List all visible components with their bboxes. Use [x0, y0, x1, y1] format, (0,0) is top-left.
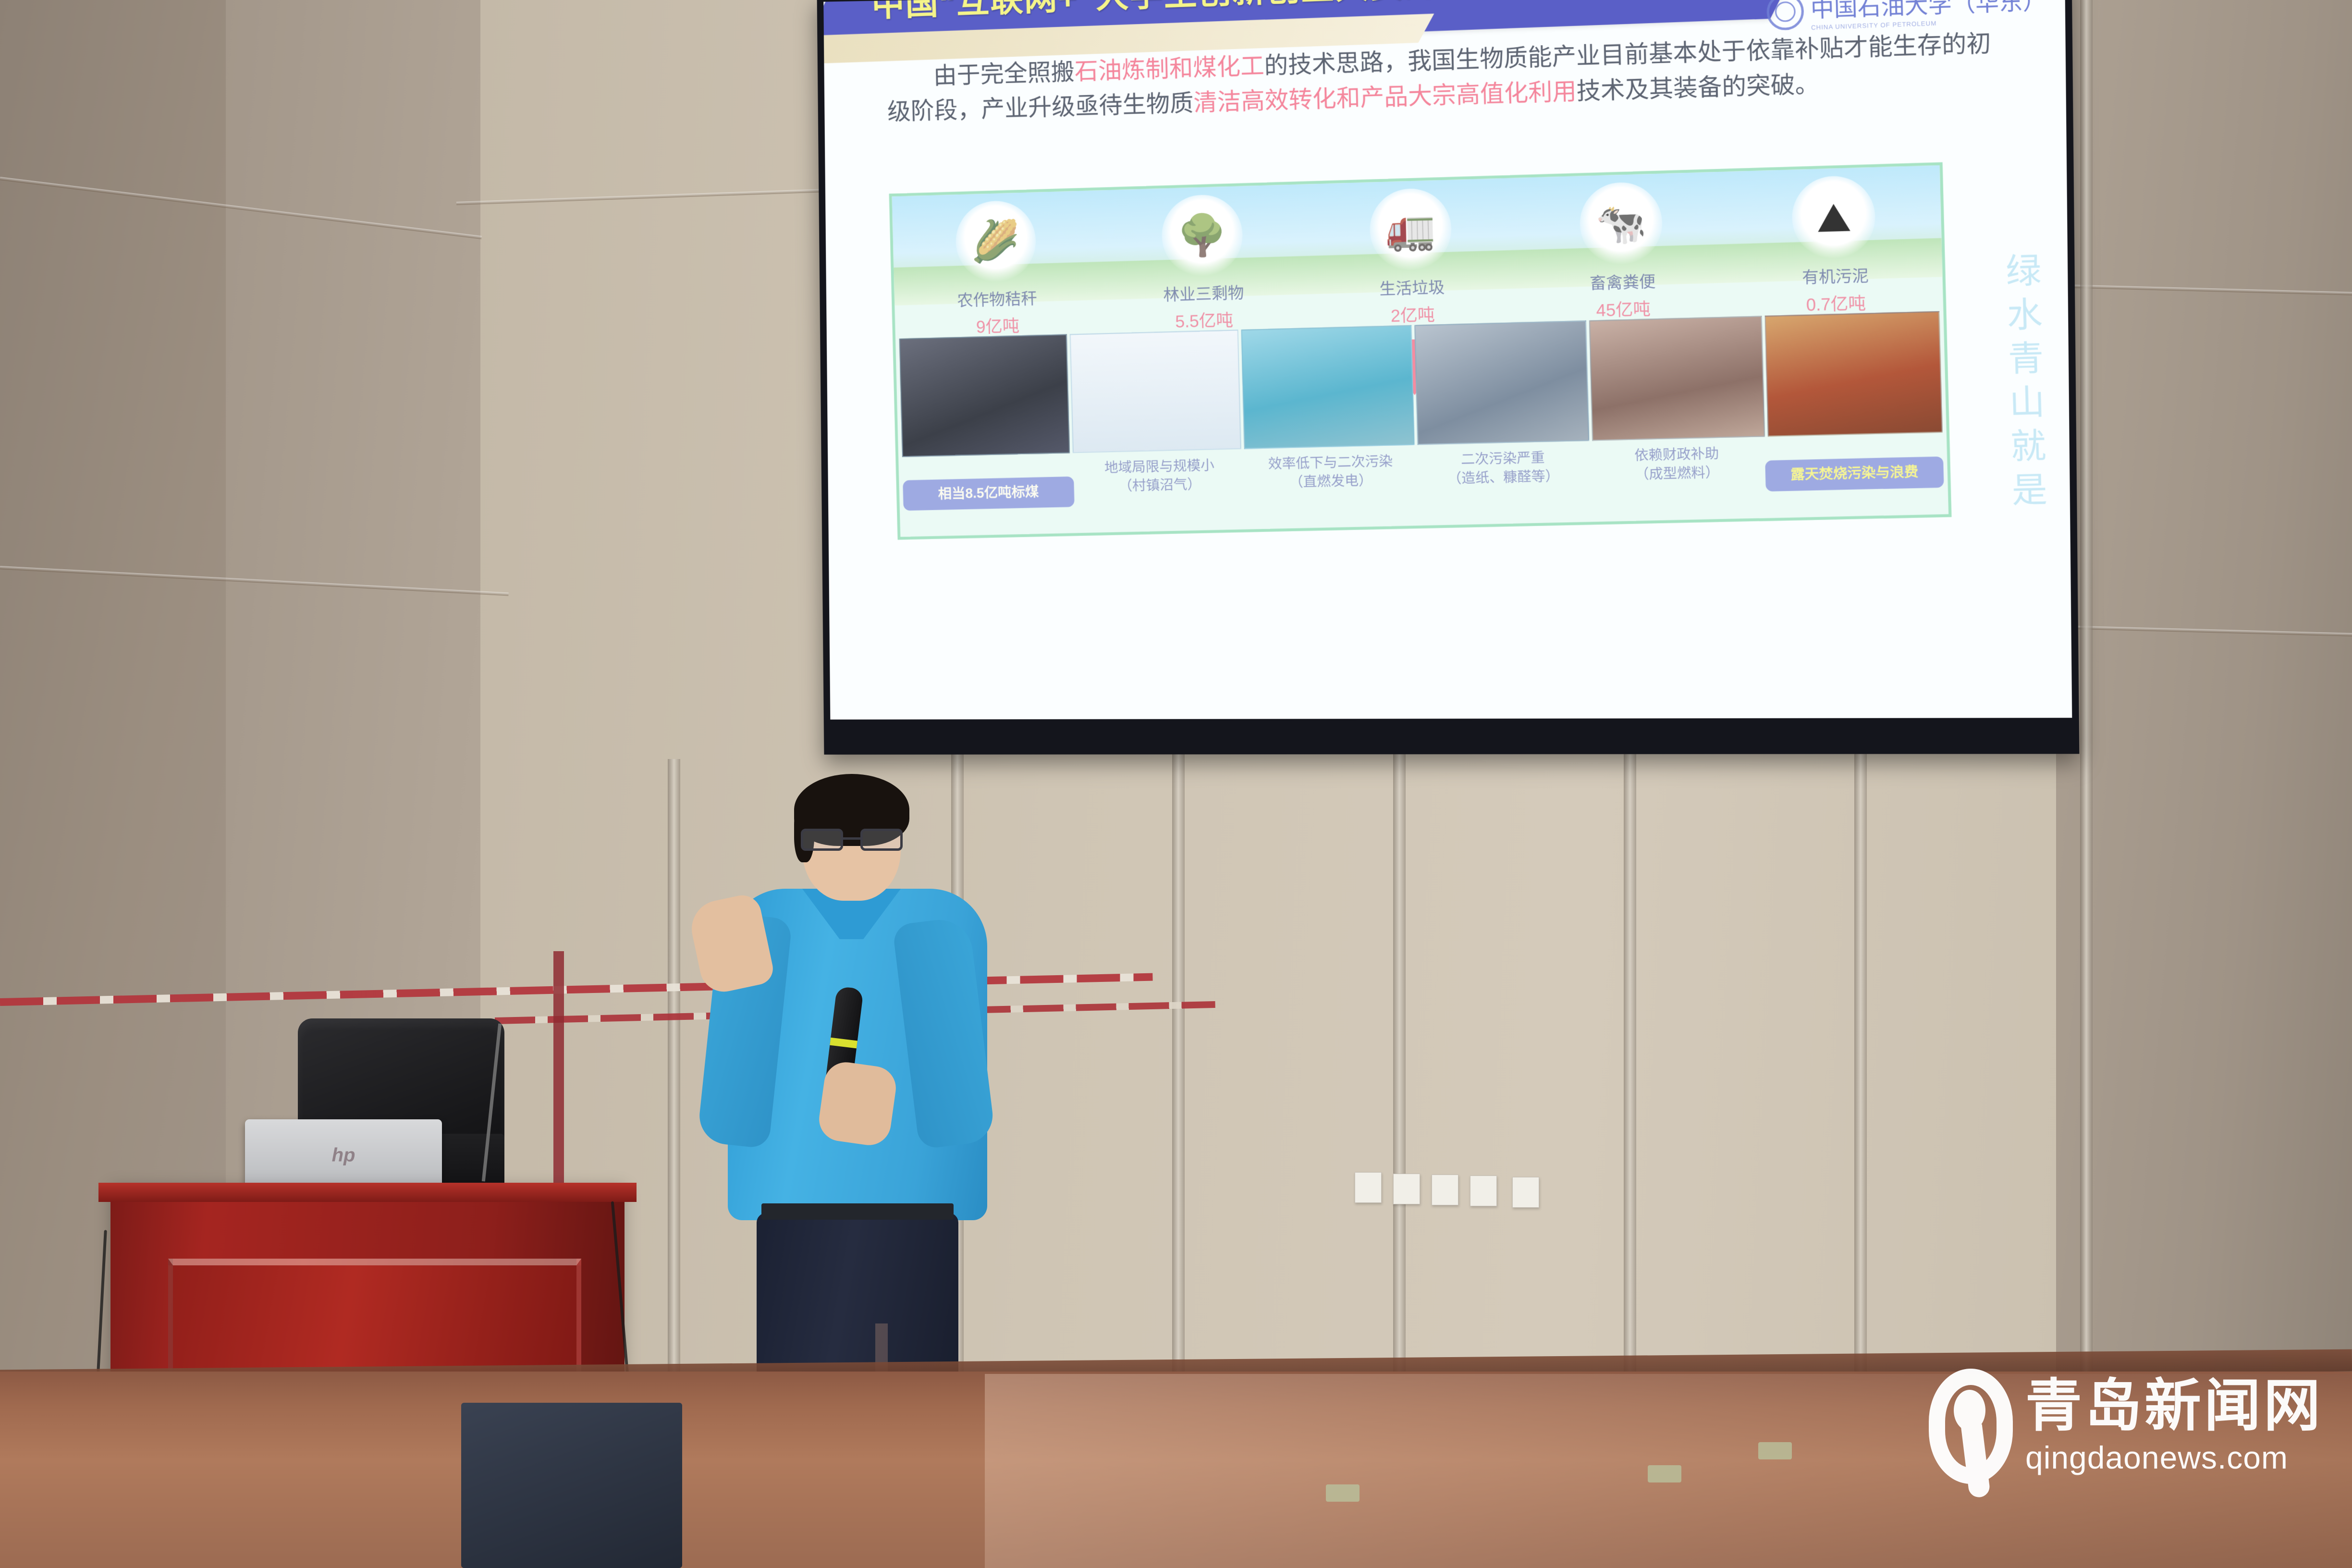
wall-outlet-5: [1512, 1177, 1539, 1208]
wall-strip-6: [1393, 749, 1406, 1374]
sludge-photo: [1589, 316, 1765, 441]
caption-line-2: （直燃发电）: [1246, 470, 1416, 493]
university-logo: 中国石油大学（华东） CHINA UNIVERSITY OF PETROLEUM: [1766, 0, 2047, 33]
garbage-truck-icon-glyph: 🚛: [1385, 208, 1436, 250]
qingdaonews-q-logo-icon: [1929, 1369, 2013, 1484]
source-column: 林业三剩物5.5亿吨: [1105, 278, 1303, 334]
watermark-chinese: 青岛新闻网: [2025, 1377, 2323, 1436]
wall-strip-7: [1624, 749, 1636, 1374]
power-plant-photo: [1241, 325, 1415, 449]
source-name: 有机污泥: [1734, 261, 1937, 290]
body-text-normal: 由于完全照搬: [933, 58, 1075, 89]
podium-top-surface: [98, 1183, 637, 1202]
presenter-belt: [761, 1203, 954, 1220]
source-name: 农作物秸秆: [899, 284, 1095, 313]
body-text-highlight: 石油炼制和煤化工: [1075, 52, 1265, 85]
watermark: 青岛新闻网 qingdaonews.com: [1929, 1369, 2323, 1484]
corn-icon-glyph: 🌽: [970, 220, 1020, 262]
caption-line-2: （成型燃料）: [1591, 463, 1764, 486]
process-caption: 依赖财政补助（成型燃料）: [1590, 440, 1764, 485]
process-caption: 二次污染严重（造纸、糠醛等）: [1417, 444, 1590, 490]
wall-outlet-3: [1432, 1175, 1458, 1205]
wall-outlet-2: [1393, 1174, 1420, 1204]
wall-outlet-4: [1470, 1176, 1497, 1206]
waste-heap-photo: [1415, 320, 1590, 445]
hp-logo: hp: [332, 1145, 355, 1166]
calligraphy-text: 绿水青山就是: [1994, 252, 2053, 516]
microphone-band: [830, 1038, 857, 1049]
infographic-badge-right: 露天焚烧污染与浪费: [1765, 457, 1944, 491]
floor-marker-1: [1326, 1484, 1360, 1502]
source-column: 农作物秸秆9亿吨: [899, 284, 1096, 340]
infographic-panel: 🌽🌳🚛🐄⛰ 农作物秸秆9亿吨林业三剩物5.5亿吨生活垃圾2亿吨畜禽粪便45亿吨有…: [889, 162, 1952, 540]
caption-line-2: （村镇沼气）: [1076, 475, 1245, 497]
body-text-normal: 技术及其装备的突破。: [1576, 70, 1820, 105]
floor-speaker: [461, 1403, 682, 1568]
presenter-right-hand: [816, 1059, 899, 1148]
source-column: 有机污泥0.7亿吨: [1734, 261, 1938, 318]
source-column: 生活垃圾2亿吨: [1312, 272, 1513, 329]
wall-panel-right: [2056, 0, 2352, 1568]
body-text-highlight: 清洁高效转化和产品大宗高值化利用: [1193, 78, 1577, 116]
watermark-url: qingdaonews.com: [2025, 1439, 2323, 1476]
projection-screen-frame: 中国“互联网+”大学生创新创业大赛的重要意义 中国石油大学（华东） CHINA …: [817, 0, 2080, 755]
lecture-hall-scene: 中国“互联网+”大学生创新创业大赛的重要意义 中国石油大学（华东） CHINA …: [0, 0, 2352, 1568]
projection-screen-surface: 中国“互联网+”大学生创新创业大赛的重要意义 中国石油大学（华东） CHINA …: [823, 0, 2072, 720]
infographic-badge-left: 相当8.5亿吨标煤: [903, 477, 1074, 511]
source-name: 林业三剩物: [1105, 278, 1303, 307]
source-name: 畜禽粪便: [1522, 267, 1724, 296]
wall-strip-5: [1172, 749, 1185, 1374]
process-caption: 效率低下与二次污染（直燃发电）: [1245, 448, 1416, 493]
floor-marker-2: [1648, 1465, 1681, 1482]
field-burning-photo: [1765, 311, 1943, 437]
cow-icon-glyph: 🐄: [1595, 203, 1647, 245]
source-name: 生活垃圾: [1312, 272, 1512, 301]
presentation-slide: 中国“互联网+”大学生创新创业大赛的重要意义 中国石油大学（华东） CHINA …: [823, 0, 2072, 720]
laptop[interactable]: hp: [245, 1119, 442, 1191]
university-seal-icon: [1766, 0, 1804, 31]
sludge-icon-glyph: ⛰: [1816, 196, 1852, 238]
process-caption: 地域局限与规模小（村镇沼气）: [1075, 452, 1245, 497]
coal-pile-photo: [899, 334, 1070, 457]
source-column: 畜禽粪便45亿吨: [1522, 267, 1724, 324]
caption-line-1: 效率低下与二次污染: [1246, 452, 1416, 474]
safety-rail-post-1: [553, 951, 564, 1220]
wall-strip-8: [1854, 745, 1867, 1379]
caption-line-2: （造纸、糠醛等）: [1418, 466, 1589, 489]
wall-strip-9: [2080, 0, 2093, 1568]
floor-marker-3: [1758, 1442, 1792, 1459]
glasses-icon: [801, 829, 903, 851]
village-biogas-diagram: [1070, 330, 1242, 453]
wall-outlet-1: [1355, 1172, 1382, 1203]
tree-icon-glyph: 🌳: [1177, 215, 1227, 256]
